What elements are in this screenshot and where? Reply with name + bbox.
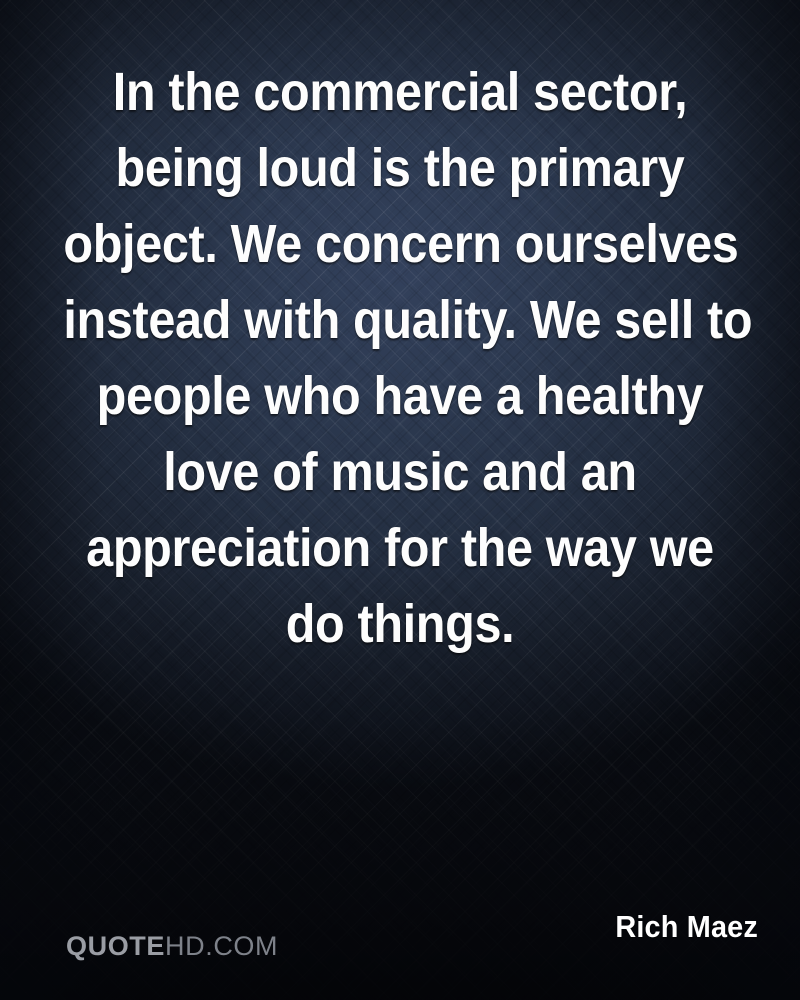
quote-text-block: In the commercial sector, being loud is … — [0, 54, 800, 662]
quote-image-canvas: In the commercial sector, being loud is … — [0, 0, 800, 1000]
watermark-light-text: HD.COM — [165, 931, 278, 961]
quote-line: object. We concern ourselves — [63, 206, 736, 282]
quote-line: instead with quality. We sell to — [63, 282, 736, 358]
quotehd-watermark: QUOTEHD.COM — [66, 930, 278, 962]
quote-line: people who have a healthy — [63, 358, 736, 434]
quote-line: being loud is the primary — [63, 130, 736, 206]
watermark-strong-text: QUOTE — [66, 931, 165, 961]
quote-line: appreciation for the way we — [63, 510, 736, 586]
quote-line: love of music and an — [63, 434, 736, 510]
quote-line: In the commercial sector, — [63, 54, 736, 130]
quote-line: do things. — [63, 586, 736, 662]
